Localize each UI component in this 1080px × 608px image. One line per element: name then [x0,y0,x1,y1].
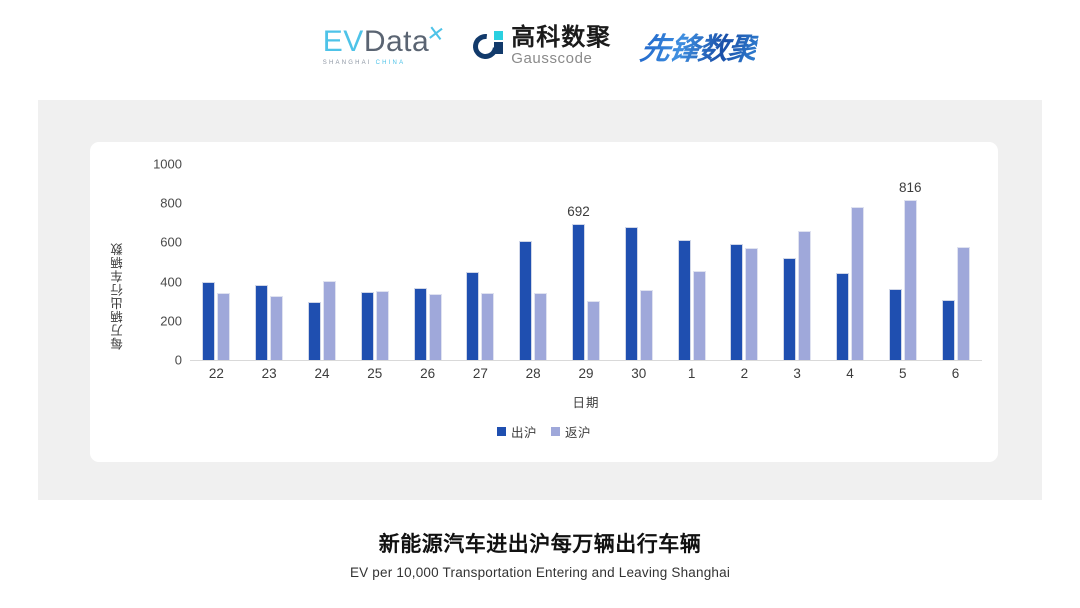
bar-group: 816 [876,164,929,360]
evdata-tagline-country: CHINA [376,60,406,66]
bar-chart: 每万辆出行车辆数 10008006004002000 692816 222324… [90,142,998,462]
x-axis-tick: 4 [824,366,877,381]
bar-return[interactable] [270,296,283,360]
bar-group: 692 [560,164,613,360]
x-axis-baseline [190,360,982,361]
evdata-wordmark: EVData ✕ [323,27,429,57]
bar-group [665,164,718,360]
bar-group [771,164,824,360]
gausscode-cyan-square-shape [494,31,503,40]
gausscode-navy-square-shape [494,42,503,54]
bar-return[interactable] [217,293,230,360]
evdata-ev-text: EV [323,25,364,58]
y-axis-tick: 0 [130,353,182,368]
x-axis-tick: 26 [401,366,454,381]
bar-out[interactable] [889,289,902,360]
footer-title-cn: 新能源汽车进出沪每万辆出行车辆 [0,528,1080,558]
bar-return[interactable] [323,281,336,360]
bar-return[interactable] [640,290,653,360]
bar-group [824,164,877,360]
bar-return[interactable] [376,291,389,360]
bar-out[interactable] [414,288,427,360]
gausscode-logo: 高科数聚 Gausscode [473,26,611,66]
bar-group [612,164,665,360]
bar-out[interactable] [730,244,743,360]
bar-out[interactable] [202,282,215,360]
plot-area: 692816 [190,164,982,360]
bar-return[interactable]: 816 [904,200,917,360]
y-axis-label: 每万辆出行车辆数 [108,242,127,350]
x-axis-tick: 24 [296,366,349,381]
y-axis-tick: 400 [130,274,182,289]
legend-label: 出沪 [511,422,537,441]
bar-out[interactable] [519,241,532,360]
footer-title-en: EV per 10,000 Transportation Entering an… [0,565,1080,580]
legend-swatch [551,427,560,436]
bar-group [296,164,349,360]
y-axis-tick: 600 [130,235,182,250]
bar-out[interactable] [361,292,374,360]
bar-value-label: 816 [899,180,922,195]
x-axis-tick: 1 [665,366,718,381]
bar-group [454,164,507,360]
x-axis-tick: 29 [560,366,613,381]
bar-return[interactable] [587,301,600,360]
bar-group [190,164,243,360]
gausscode-cn-text: 高科数聚 [511,26,611,50]
bar-group [243,164,296,360]
bar-return[interactable] [429,294,442,360]
bar-out[interactable]: 692 [572,224,585,360]
evdata-data-text: Data [364,25,429,58]
legend-item[interactable]: 返沪 [551,422,591,441]
y-axis-tick: 800 [130,196,182,211]
x-axis-tick: 30 [612,366,665,381]
y-axis-tick: 1000 [130,157,182,172]
gausscode-wordmark: 高科数聚 Gausscode [511,26,611,66]
gausscode-g-icon [473,31,504,62]
bar-out[interactable] [466,272,479,360]
bar-out[interactable] [625,227,638,360]
x-axis-tick: 23 [243,366,296,381]
bar-return[interactable] [851,207,864,360]
bar-value-label: 692 [567,204,590,219]
bar-out[interactable] [942,300,955,360]
bar-groups: 692816 [190,164,982,360]
bar-group [929,164,982,360]
bar-out[interactable] [308,302,321,360]
xianfeng-logo: 先锋数聚 [638,24,761,68]
x-axis-ticks: 222324252627282930123456 [190,366,982,381]
x-axis-tick: 28 [507,366,560,381]
bar-out[interactable] [783,258,796,360]
logo-bar: EVData ✕ SHANGHAI CHINA 高科数聚 Gausscode 先… [0,0,1080,92]
evdata-tagline: SHANGHAI CHINA [323,60,429,66]
bar-out[interactable] [836,273,849,360]
evdata-cross-icon: ✕ [426,22,447,45]
bar-return[interactable] [534,293,547,360]
bar-return[interactable] [481,293,494,360]
evdata-logo: EVData ✕ SHANGHAI CHINA [323,27,443,66]
legend-label: 返沪 [565,422,591,441]
evdata-tagline-city: SHANGHAI [323,60,376,66]
x-axis-label: 日期 [190,392,982,411]
bar-out[interactable] [678,240,691,360]
chart-legend: 出沪返沪 [90,422,998,441]
bar-return[interactable] [798,231,811,360]
x-axis-tick: 25 [348,366,401,381]
legend-item[interactable]: 出沪 [497,422,537,441]
x-axis-tick: 3 [771,366,824,381]
chart-panel: 每万辆出行车辆数 10008006004002000 692816 222324… [38,100,1042,500]
bar-return[interactable] [957,247,970,360]
bar-group [718,164,771,360]
x-axis-tick: 2 [718,366,771,381]
y-axis-ticks: 10008006004002000 [130,142,182,462]
bar-group [348,164,401,360]
gausscode-en-text: Gausscode [511,51,611,66]
bar-group [401,164,454,360]
bar-group [507,164,560,360]
bar-return[interactable] [745,248,758,360]
chart-card: 每万辆出行车辆数 10008006004002000 692816 222324… [90,142,998,462]
y-axis-tick: 200 [130,313,182,328]
x-axis-tick: 5 [876,366,929,381]
bar-return[interactable] [693,271,706,360]
bar-out[interactable] [255,285,268,360]
x-axis-tick: 22 [190,366,243,381]
footer: 新能源汽车进出沪每万辆出行车辆 EV per 10,000 Transporta… [0,528,1080,580]
x-axis-tick: 27 [454,366,507,381]
x-axis-tick: 6 [929,366,982,381]
legend-swatch [497,427,506,436]
